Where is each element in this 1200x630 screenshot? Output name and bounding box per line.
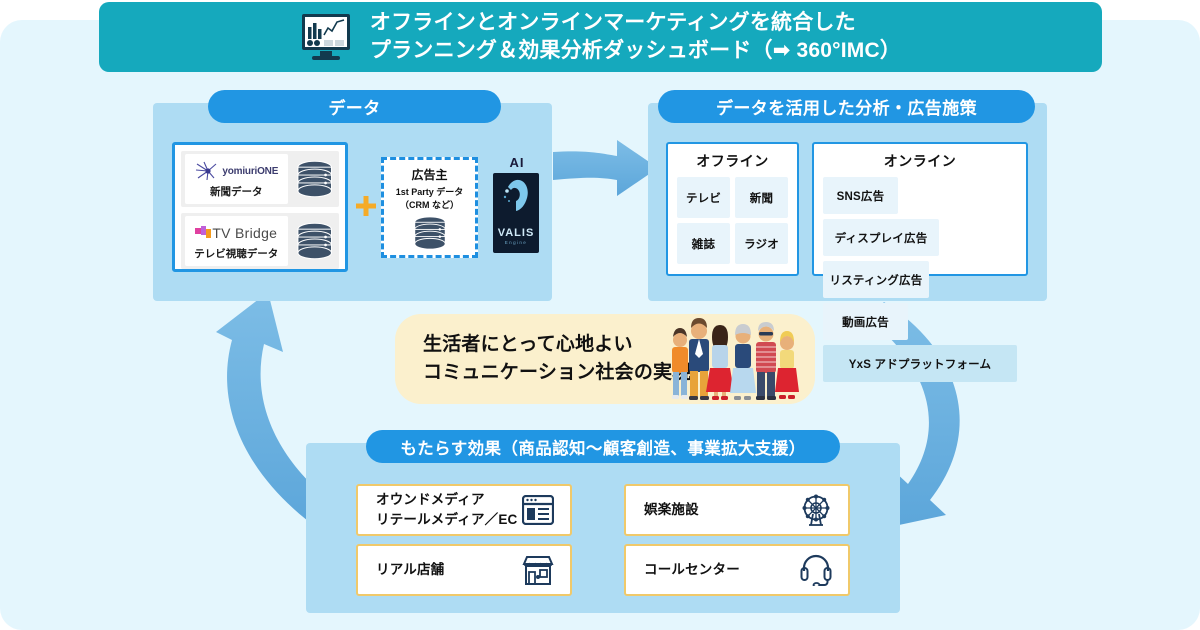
offline-chip-newspaper[interactable]: 新聞 xyxy=(735,177,788,218)
online-chip-grid: SNS広告 ディスプレイ広告 リスティング広告 動画広告 YxS アドプラットフ… xyxy=(823,177,1017,382)
valis-face-icon xyxy=(502,179,530,213)
tvbridge-logo-text: TV Bridge xyxy=(212,225,277,241)
advertiser-line2: 1st Party データ xyxy=(396,185,464,198)
effect-card-label: リアル店舗 xyxy=(376,560,444,580)
data-sources-container: yomiuriONE 新聞データ xyxy=(172,142,348,272)
advertiser-line3: （CRM など） xyxy=(400,198,459,211)
analysis-section-title: データを活用した分析・広告施策 xyxy=(658,90,1035,123)
person-senior-man xyxy=(756,322,776,400)
online-card: オンライン SNS広告 ディスプレイ広告 リスティング広告 動画広告 YxS ア… xyxy=(812,142,1028,276)
diagram-root: オフラインとオンラインマーケティングを統合した プランニング＆効果分析ダッシュボ… xyxy=(0,0,1200,630)
header-title: オフラインとオンラインマーケティングを統合した プランニング＆効果分析ダッシュボ… xyxy=(370,9,901,66)
person-boy xyxy=(672,328,688,399)
data-source-newspaper[interactable]: yomiuriONE 新聞データ xyxy=(181,151,339,207)
offline-chip-magazine[interactable]: 雑誌 xyxy=(677,223,730,264)
online-chip-display[interactable]: ディスプレイ広告 xyxy=(823,219,939,256)
online-chip-yxs-platform[interactable]: YxS アドプラットフォーム xyxy=(823,345,1017,382)
valis-sub-text: Engine xyxy=(505,240,527,245)
effect-card-entertainment[interactable]: 娯楽施設 xyxy=(624,484,850,536)
ferris-wheel-icon xyxy=(800,494,832,526)
headset-icon xyxy=(800,554,832,586)
person-man xyxy=(689,318,709,400)
effect-card-label: 娯楽施設 xyxy=(644,500,699,520)
effect-card-label: コールセンター xyxy=(644,560,740,580)
yomiuri-logo-block: yomiuriONE 新聞データ xyxy=(185,154,288,204)
data-source-caption: テレビ視聴データ xyxy=(194,246,278,261)
advertiser-first-party-box[interactable]: 広告主 1st Party データ （CRM など） xyxy=(381,157,478,258)
offline-chip-grid: テレビ 新聞 雑誌 ラジオ xyxy=(677,177,788,264)
online-chip-listing[interactable]: リスティング広告 xyxy=(823,261,929,298)
database-icon xyxy=(294,222,335,260)
data-source-tv[interactable]: TV Bridge テレビ視聴データ xyxy=(181,213,339,269)
ai-block: AI VALIS Engine xyxy=(493,155,541,260)
offline-chip-radio[interactable]: ラジオ xyxy=(735,223,788,264)
online-title: オンライン xyxy=(823,151,1017,171)
effect-card-owned-media[interactable]: オウンドメディア リテールメディア／EC xyxy=(356,484,572,536)
effect-card-label: オウンドメディア リテールメディア／EC xyxy=(376,490,518,529)
data-section-title: データ xyxy=(208,90,501,123)
plus-icon xyxy=(356,196,376,216)
valis-engine-card[interactable]: VALIS Engine xyxy=(493,173,539,253)
goal-box: 生活者にとって心地よい コミュニケーション社会の実現 xyxy=(395,314,815,404)
storefront-icon xyxy=(522,555,554,585)
web-page-icon xyxy=(522,495,554,525)
goal-text: 生活者にとって心地よい コミュニケーション社会の実現 xyxy=(423,331,691,386)
header-banner: オフラインとオンラインマーケティングを統合した プランニング＆効果分析ダッシュボ… xyxy=(99,2,1102,72)
offline-card: オフライン テレビ 新聞 雑誌 ラジオ xyxy=(666,142,799,276)
effect-card-real-store[interactable]: リアル店舗 xyxy=(356,544,572,596)
effect-card-call-center[interactable]: コールセンター xyxy=(624,544,850,596)
family-group-illustration xyxy=(666,314,801,400)
dashboard-monitor-icon xyxy=(300,13,352,61)
yomiuri-burst-icon xyxy=(194,161,222,181)
tvbridge-squares-icon xyxy=(195,226,212,240)
database-icon xyxy=(408,216,452,250)
offline-chip-tv[interactable]: テレビ xyxy=(677,177,730,218)
offline-title: オフライン xyxy=(677,151,788,171)
online-chip-sns[interactable]: SNS広告 xyxy=(823,177,898,214)
data-source-caption: 新聞データ xyxy=(210,184,263,199)
ai-label: AI xyxy=(493,155,541,170)
valis-brand-text: VALIS xyxy=(498,227,535,239)
tvbridge-logo-block: TV Bridge テレビ視聴データ xyxy=(185,216,288,266)
person-senior-woman xyxy=(730,324,756,400)
yomiuri-logo-text: yomiuriONE xyxy=(222,166,278,177)
advertiser-title: 広告主 xyxy=(411,166,447,183)
online-chip-video[interactable]: 動画広告 xyxy=(823,303,908,340)
person-woman-red xyxy=(706,325,734,400)
person-girl xyxy=(775,331,799,399)
effects-section-title: もたらす効果（商品認知〜顧客創造、事業拡大支援） xyxy=(366,430,840,463)
database-icon xyxy=(294,160,335,198)
